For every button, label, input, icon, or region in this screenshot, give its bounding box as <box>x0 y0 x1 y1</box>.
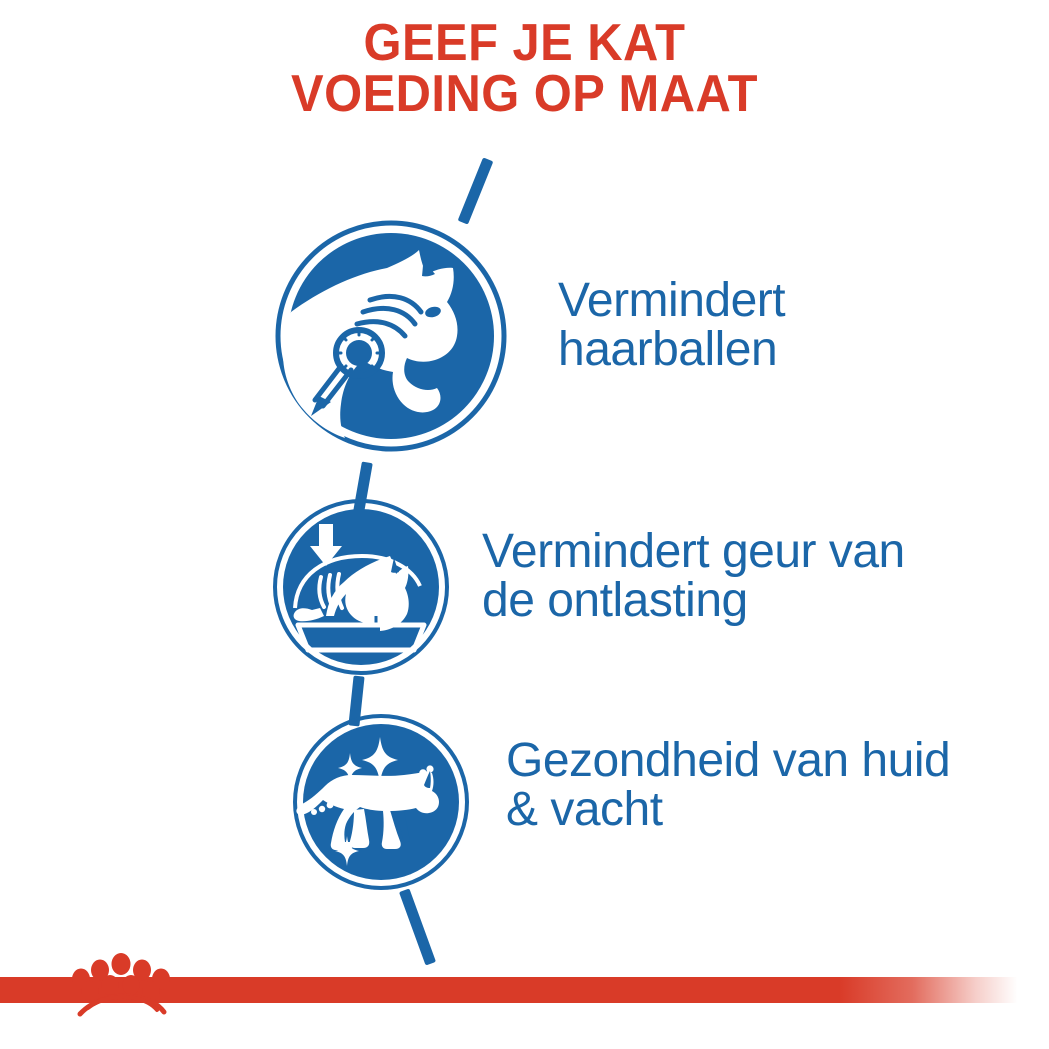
feature-label-line-2: & vacht <box>506 785 1046 834</box>
feature-label-line-1: Gezondheid van huid <box>506 736 1046 785</box>
cat-skin-coat-sparkle-icon <box>292 713 470 891</box>
feature-item-skin-coat: Gezondheid van huid & vacht <box>0 0 1049 1049</box>
promo-card: GEEF JE KAT VOEDING OP MAAT <box>0 0 1049 1049</box>
feature-label-skin-coat: Gezondheid van huid & vacht <box>506 736 1046 835</box>
royal-canin-crown-icon <box>70 944 188 1020</box>
